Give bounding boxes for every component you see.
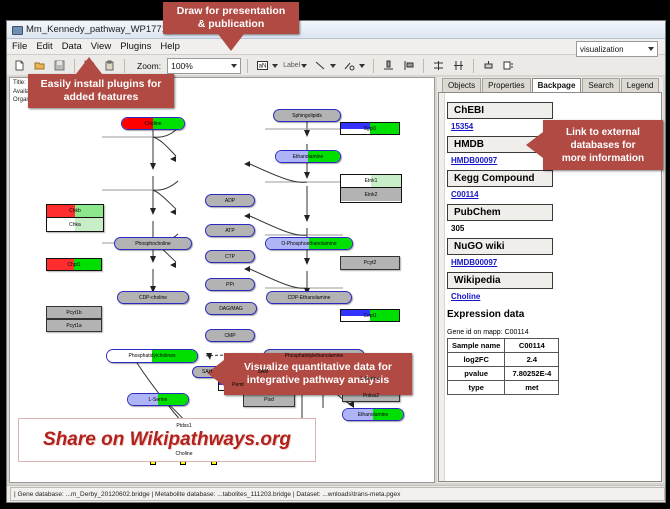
node-label: Pcyt1a <box>66 323 81 329</box>
menu-item-view[interactable]: View <box>91 41 111 52</box>
tab-properties[interactable]: Properties <box>482 78 530 92</box>
interaction-icon <box>341 57 358 74</box>
interaction-tool-dropdown[interactable] <box>341 57 367 74</box>
node-ctp[interactable]: CTP <box>205 250 255 263</box>
gene-pcyt1b[interactable]: Pcyt1b <box>46 306 102 319</box>
status-bar-text: | Gene database: ...m_Derby_20120602.bri… <box>14 491 400 498</box>
node-label: Phosphatidylcholines <box>129 353 176 359</box>
db-header-wikipedia: Wikipedia <box>447 272 553 289</box>
node-label: Pcyt2 <box>364 260 377 266</box>
db-link-nugo-wiki[interactable]: HMDB00097 <box>451 258 657 267</box>
share-banner: Share on Wikipathways.org <box>18 418 316 462</box>
datanode-icon: aN <box>254 57 271 74</box>
node-ethanolamine-top[interactable]: Ethanolamine <box>275 150 341 163</box>
callout-arrow-up-plugins <box>76 57 102 74</box>
expression-table: Sample name C00114 log2FC 2.4 pvalue 7.8… <box>447 338 559 395</box>
node-label: SAM <box>258 369 269 375</box>
tab-objects[interactable]: Objects <box>442 78 481 92</box>
db-header-pubchem: PubChem <box>447 204 553 221</box>
line-tool-dropdown[interactable] <box>312 57 338 74</box>
gene-pcyt2[interactable]: Pcyt2 <box>340 256 400 270</box>
open-file-icon[interactable] <box>31 57 48 74</box>
toolbar-separator-1 <box>74 59 75 73</box>
toolbar-separator-4 <box>373 59 374 73</box>
table-row: log2FC 2.4 <box>448 353 559 367</box>
gene-sgpl1[interactable]: Sgpl1 <box>340 122 400 135</box>
group-icon[interactable] <box>480 57 497 74</box>
node-label: Pcyt1b <box>66 310 81 316</box>
gene-group-pcyt1[interactable]: Pcyt1b Pcyt1a <box>46 306 102 333</box>
menu-bar: File Edit Data View Plugins Help <box>7 39 665 55</box>
toolbar-separator-2 <box>124 59 125 73</box>
gene-chpt1[interactable]: Chpt1 <box>46 258 102 271</box>
cell-value: 2.4 <box>505 353 559 367</box>
align-top-icon[interactable] <box>380 57 397 74</box>
node-label: ATP <box>225 228 234 234</box>
node-label: Chpt1 <box>67 262 80 268</box>
menu-item-data[interactable]: Data <box>62 41 82 52</box>
visualization-combobox[interactable]: visualization <box>576 41 658 57</box>
gene-etnk1[interactable]: Etnk1 <box>341 175 401 188</box>
node-o-phosphoethanolamine[interactable]: O-Phosphoethanolamine <box>265 237 353 250</box>
node-ppi[interactable]: PPi <box>205 278 255 291</box>
node-label: DAG/MAG <box>219 306 243 312</box>
cell-label: log2FC <box>448 353 505 367</box>
gene-pisd[interactable]: Pisd <box>243 393 295 407</box>
db-header-nugo-wiki: NuGO wiki <box>447 238 553 255</box>
new-file-icon[interactable] <box>11 57 28 74</box>
node-label: CDP-Ethanolamine <box>288 295 331 301</box>
label-tool-label: Label <box>283 62 300 69</box>
gene-group-chk[interactable]: Chkb Chka <box>46 204 104 232</box>
tab-legend[interactable]: Legend <box>621 78 660 92</box>
pathvisio-app-icon <box>11 24 22 35</box>
node-cdp-ethanolamine[interactable]: CDP-Ethanolamine <box>266 291 352 304</box>
gene-chkb[interactable]: Chkb <box>47 205 103 218</box>
callout-visualize-quantitative-data: Visualize quantitative data for integrat… <box>224 353 412 395</box>
distribute-vertical-icon[interactable] <box>450 57 467 74</box>
node-label: Phosphatidylethanolamine <box>285 353 344 359</box>
distribute-horizontal-icon[interactable] <box>430 57 447 74</box>
backpage-scrollbar[interactable] <box>439 93 445 481</box>
node-phosphatidylcholines[interactable]: Phosphatidylcholines <box>106 349 198 363</box>
node-label: Choline <box>176 451 193 457</box>
node-label: Ptdss1 <box>176 423 191 429</box>
cell-value: C00114 <box>505 339 559 353</box>
node-label: Etnk1 <box>365 178 378 184</box>
node-label: CDP-choline <box>139 295 167 301</box>
visualization-value: visualization <box>580 45 624 54</box>
table-row: Sample name C00114 <box>448 339 559 353</box>
db-link-wikipedia[interactable]: Choline <box>451 292 657 301</box>
menu-item-file[interactable]: File <box>12 41 27 52</box>
gene-pcyt1a[interactable]: Pcyt1a <box>46 319 102 332</box>
table-row: pvalue 7.80252E-4 <box>448 367 559 381</box>
align-left-icon[interactable] <box>400 57 417 74</box>
node-ethanolamine-bottom[interactable]: Ethanolamine <box>342 408 404 421</box>
callout-easily-install-plugins: Easily install plugins for added feature… <box>28 74 174 108</box>
gene-cept1[interactable]: Cept1 <box>340 309 400 322</box>
chevron-down-icon <box>272 64 278 68</box>
tab-backpage[interactable]: Backpage <box>532 78 582 93</box>
menu-item-help[interactable]: Help <box>160 41 180 52</box>
label-tool-dropdown[interactable]: Label <box>283 62 309 69</box>
node-dag-mag[interactable]: DAG/MAG <box>205 302 257 315</box>
callout-arrow-down-draw <box>218 34 244 51</box>
node-label: L-Serine <box>149 397 168 403</box>
menu-item-edit[interactable]: Edit <box>36 41 52 52</box>
gene-etnk2[interactable]: Etnk2 <box>341 188 401 201</box>
zoom-label: Zoom: <box>137 61 161 71</box>
node-label: CMP <box>224 333 235 339</box>
node-label: Pisd <box>264 397 274 403</box>
toolbar-separator-5 <box>423 59 424 73</box>
gene-id-line: Gene id on mapp: C00114 <box>447 329 657 336</box>
zoom-combobox[interactable]: 100% <box>167 58 241 74</box>
node-label: Ethanolamine <box>293 154 324 160</box>
chevron-down-icon <box>359 64 365 68</box>
datanode-tool-dropdown[interactable]: aN <box>254 57 280 74</box>
node-label: Phosphocholine <box>135 241 171 247</box>
db-header-chebi: ChEBI <box>447 102 553 119</box>
node-label: Pemt <box>232 382 244 388</box>
expression-data-heading: Expression data <box>447 309 657 320</box>
node-label: Choline <box>145 121 162 127</box>
node-label: SAH <box>202 369 212 375</box>
node-label: Chkb <box>69 208 81 214</box>
node-label: O-Phosphoethanolamine <box>281 241 336 247</box>
cell-label: Sample name <box>448 339 505 353</box>
toolbar-separator-3 <box>247 59 248 73</box>
node-label: Chka <box>69 222 81 228</box>
node-label: PPi <box>226 282 234 288</box>
cell-label: pvalue <box>448 367 505 381</box>
node-label: Pnliss2 <box>363 393 379 399</box>
callout-link-to-external-databases: Link to external databases for more info… <box>543 120 663 170</box>
order-icon[interactable] <box>500 57 517 74</box>
paste-icon[interactable] <box>101 57 118 74</box>
node-choline-top[interactable]: Choline <box>121 117 185 130</box>
node-cmp[interactable]: CMP <box>205 329 255 342</box>
node-label: CTP <box>225 254 235 260</box>
chevron-down-icon <box>301 64 307 68</box>
menu-item-plugins[interactable]: Plugins <box>120 41 151 52</box>
db-value-pubchem: 305 <box>451 224 657 233</box>
chevron-down-icon <box>231 64 237 68</box>
node-label: Sphingolipids <box>292 113 322 119</box>
node-phosphocholine[interactable]: Phosphocholine <box>114 237 192 250</box>
tab-search[interactable]: Search <box>582 78 619 92</box>
node-adp[interactable]: ADP <box>205 194 255 207</box>
node-label: Sgpl1 <box>364 126 377 132</box>
gene-chka[interactable]: Chka <box>47 218 103 231</box>
node-sphingolipids[interactable]: Sphingolipids <box>273 109 341 122</box>
svg-text:aN: aN <box>259 64 267 70</box>
share-banner-text: Share on Wikipathways.org <box>43 429 291 451</box>
cell-value: 7.80252E-4 <box>505 367 559 381</box>
callout-draw-for-presentation: Draw for presentation & publication <box>163 2 299 34</box>
node-l-serine-left[interactable]: L-Serine <box>127 393 189 406</box>
node-label: Cept1 <box>363 313 376 319</box>
status-bar-field: | Gene database: ...m_Derby_20120602.bri… <box>10 487 665 501</box>
side-panel-tabs: Objects Properties Backpage Search Legen… <box>437 77 663 92</box>
node-label: Etnk2 <box>365 192 378 198</box>
cell-label: type <box>448 381 505 395</box>
line-icon <box>312 57 329 74</box>
chevron-down-icon <box>648 47 654 51</box>
db-link-kegg-compound[interactable]: C00114 <box>451 190 657 199</box>
node-atp[interactable]: ATP <box>205 224 255 237</box>
callout-arrow-left-link <box>526 132 543 158</box>
gene-group-etnk[interactable]: Etnk1 Etnk2 <box>340 174 402 203</box>
node-label: Ethanolamine <box>358 412 389 418</box>
save-file-icon[interactable] <box>51 57 68 74</box>
chevron-down-icon <box>330 64 336 68</box>
table-row: type met <box>448 381 559 395</box>
db-header-kegg-compound: Kegg Compound <box>447 170 553 187</box>
toolbar-separator-6 <box>473 59 474 73</box>
cell-value: met <box>505 381 559 395</box>
node-label: ADP <box>225 198 235 204</box>
title-bar: Mm_Kennedy_pathway_WP1771_45176.gpml <box>7 21 665 39</box>
status-bar: | Gene database: ...m_Derby_20120602.bri… <box>7 485 665 502</box>
screenshot-root: Mm_Kennedy_pathway_WP1771_45176.gpml Fil… <box>0 0 670 509</box>
node-cdp-choline[interactable]: CDP-choline <box>117 291 189 304</box>
zoom-value: 100% <box>171 61 193 71</box>
node-label: L-Serine <box>361 376 380 382</box>
